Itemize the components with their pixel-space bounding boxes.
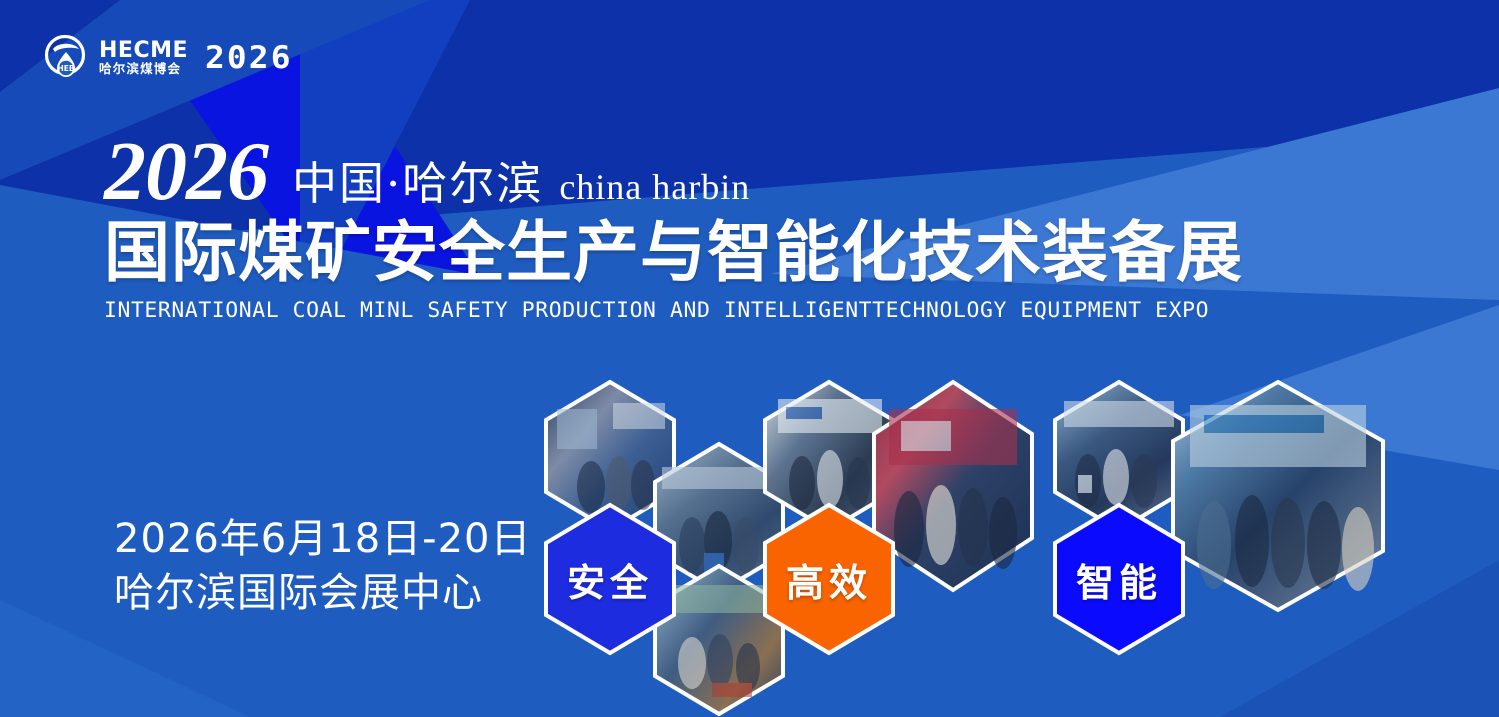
badge-safety[interactable]: 安全 — [543, 502, 677, 656]
badge-intelligent[interactable]: 智能 — [1052, 502, 1186, 656]
hex-photo-7[interactable] — [1170, 379, 1386, 613]
hexagon-photo-collage: 安全 高效 智能 — [0, 0, 1499, 717]
event-banner: HEB HECME 哈尔滨煤博会 2026 2026 中国·哈尔滨 china … — [0, 0, 1499, 717]
badge-efficiency[interactable]: 高效 — [762, 502, 896, 656]
